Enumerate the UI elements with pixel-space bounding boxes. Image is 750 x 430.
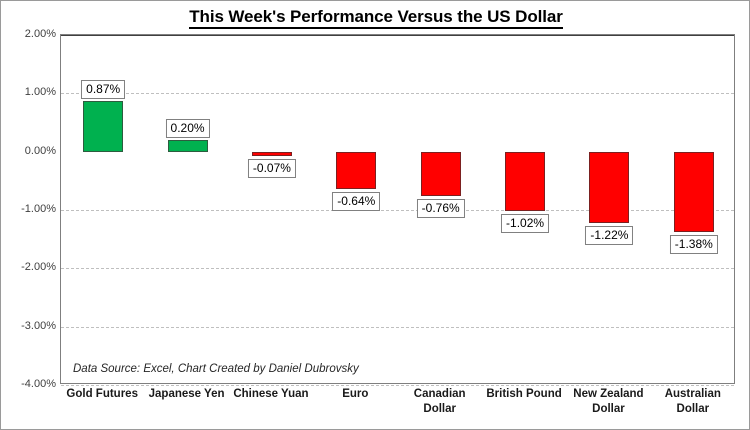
bar-british-pound[interactable]: [505, 152, 545, 212]
x-axis-category-label: Japanese Yen: [147, 387, 225, 402]
bar-chinese-yuan[interactable]: [252, 152, 292, 156]
gridline: [61, 268, 734, 269]
data-label: -0.07%: [248, 159, 296, 178]
x-axis-category-label: Chinese Yuan: [232, 387, 310, 402]
y-axis-tick-label: 0.00%: [2, 145, 56, 157]
bar-gold-futures[interactable]: [83, 101, 123, 152]
y-axis-tick-label: -1.00%: [2, 203, 56, 215]
bar-euro[interactable]: [336, 152, 376, 189]
data-label: 0.87%: [81, 80, 125, 99]
data-label: -1.38%: [670, 235, 718, 254]
x-axis: Gold FuturesJapanese YenChinese YuanEuro…: [60, 387, 735, 429]
gridline: [61, 327, 734, 328]
chart-title: This Week's Performance Versus the US Do…: [1, 7, 750, 27]
gridline: [61, 210, 734, 211]
y-axis-tick-label: 1.00%: [2, 86, 56, 98]
x-axis-category-label: Canadian Dollar: [401, 387, 479, 417]
zero-line: [61, 35, 734, 36]
x-axis-category-label: British Pound: [485, 387, 563, 402]
chart-title-text: This Week's Performance Versus the US Do…: [189, 7, 562, 29]
data-label: -1.22%: [585, 226, 633, 245]
plot-area: Data Source: Excel, Chart Created by Dan…: [60, 34, 735, 384]
y-axis-tick-label: -4.00%: [2, 378, 56, 390]
y-axis-tick-label: -3.00%: [2, 320, 56, 332]
bar-japanese-yen[interactable]: [168, 140, 208, 152]
gridline: [61, 385, 734, 386]
bar-australian-dollar[interactable]: [674, 152, 714, 233]
x-axis-category-label: Australian Dollar: [654, 387, 732, 417]
chart-frame: This Week's Performance Versus the US Do…: [0, 0, 750, 430]
data-label: 0.20%: [166, 119, 210, 138]
data-label: -0.76%: [417, 199, 465, 218]
x-axis-category-label: New Zealand Dollar: [569, 387, 647, 417]
y-axis-tick-label: -2.00%: [2, 261, 56, 273]
source-note: Data Source: Excel, Chart Created by Dan…: [73, 363, 359, 375]
y-axis: 2.00%1.00%0.00%-1.00%-2.00%-3.00%-4.00%: [1, 34, 56, 384]
y-axis-tick-label: 2.00%: [2, 28, 56, 40]
bar-canadian-dollar[interactable]: [421, 152, 461, 196]
gridline: [61, 93, 734, 94]
x-axis-category-label: Gold Futures: [63, 387, 141, 402]
bar-new-zealand-dollar[interactable]: [589, 152, 629, 223]
x-axis-category-label: Euro: [316, 387, 394, 402]
data-label: -1.02%: [501, 214, 549, 233]
data-label: -0.64%: [332, 192, 380, 211]
